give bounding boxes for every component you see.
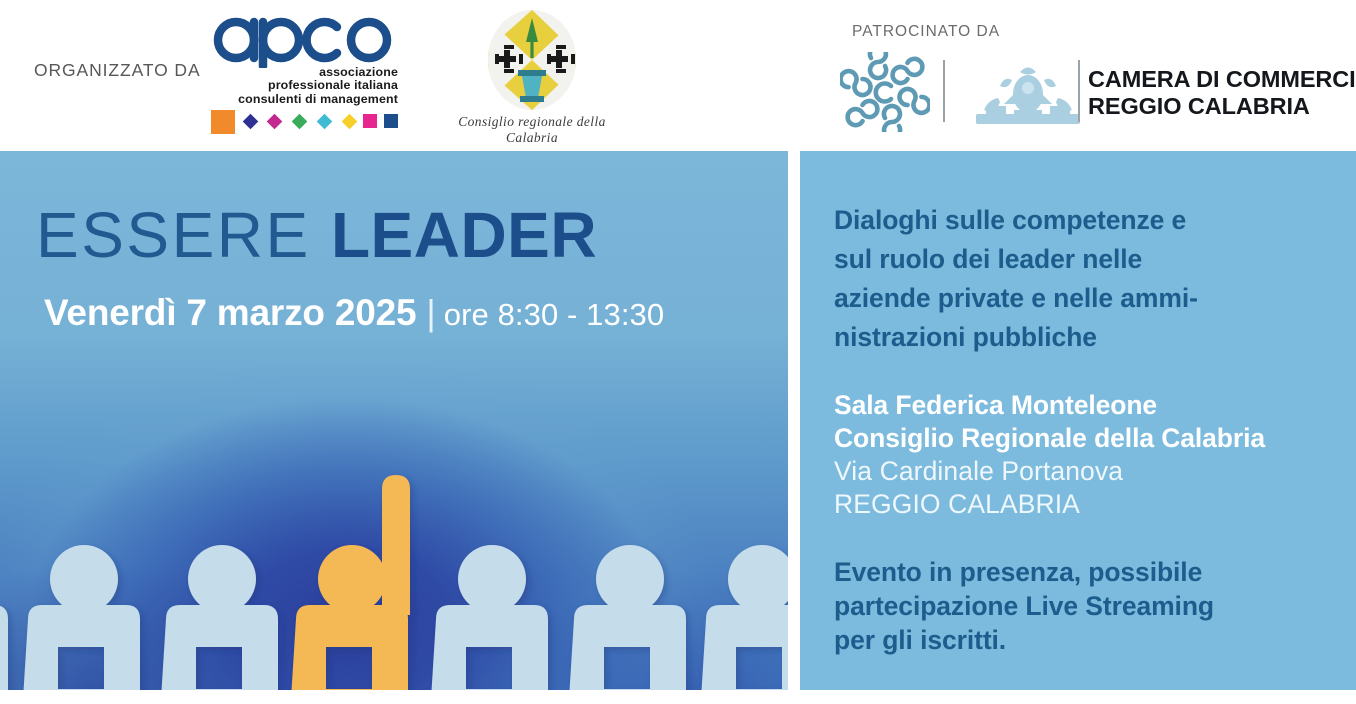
apco-tagline-line-1: associazione [208, 66, 398, 79]
poster-title: ESSERE LEADER [36, 203, 597, 267]
swatch-yellow [342, 114, 358, 130]
description-line-4: nistrazioni pubbliche [834, 318, 1338, 357]
calabria-emblem-icon [432, 8, 632, 112]
description-line-3: aziende private e nelle ammi- [834, 279, 1338, 318]
venue-building: Consiglio Regionale della Calabria [834, 422, 1338, 455]
organized-by-label: ORGANIZZATO DA [34, 60, 201, 81]
swatch-blue [384, 114, 398, 128]
apco-color-swatches [211, 110, 398, 134]
title-word-essere: ESSERE [36, 199, 311, 271]
apco-tagline: associazione professionale italiana cons… [208, 66, 398, 106]
event-description: Dialoghi sulle competenze e sul ruolo de… [834, 201, 1338, 357]
attendance-line-2: partecipazione Live Streaming [834, 589, 1338, 623]
event-venue: Sala Federica Monteleone Consiglio Regio… [834, 389, 1338, 521]
event-details-panel: Dialoghi sulle competenze e sul ruolo de… [800, 151, 1356, 690]
swatch-cyan [317, 114, 333, 130]
swatch-pink [363, 114, 377, 128]
venue-hall: Sala Federica Monteleone [834, 389, 1338, 422]
cdc-title-line-2: REGGIO CALABRIA [1088, 93, 1356, 120]
swatch-magenta [267, 114, 283, 130]
sponsored-by-label: PATROCINATO DA [852, 23, 1000, 41]
chamber-crest-icon [968, 60, 1088, 130]
swatch-orange [211, 110, 235, 134]
description-line-2: sul ruolo dei leader nelle [834, 240, 1338, 279]
attendance-line-1: Evento in presenza, possibile [834, 555, 1338, 589]
apco-tagline-line-3: consulenti di management [208, 93, 398, 106]
camera-di-commercio-logo: CAMERA DI COMMERCIO REGGIO CALABRIA [840, 52, 1340, 132]
calabria-council-logo: Consiglio regionale della Calabria [432, 8, 632, 136]
chamber-rosette-icon [840, 52, 930, 132]
logo-divider-left [943, 60, 945, 122]
calabria-council-caption: Consiglio regionale della Calabria [432, 114, 632, 146]
venue-city: REGGIO CALABRIA [834, 488, 1338, 521]
apco-tagline-line-2: professionale italiana [208, 79, 398, 92]
logo-divider-right [1078, 60, 1080, 122]
swatch-navy [243, 114, 259, 130]
camera-di-commercio-title: CAMERA DI COMMERCIO REGGIO CALABRIA [1088, 66, 1356, 119]
venue-street: Via Cardinale Portanova [834, 455, 1338, 488]
description-line-1: Dialoghi sulle competenze e [834, 201, 1338, 240]
poster-header: ORGANIZZATO DA [0, 0, 1356, 148]
event-datetime: Venerdì 7 marzo 2025|ore 8:30 - 13:30 [44, 294, 664, 331]
apco-wordmark-icon [212, 10, 398, 68]
event-poster: ORGANIZZATO DA [0, 0, 1356, 704]
event-hours: ore 8:30 - 13:30 [444, 297, 664, 332]
swatch-green [292, 114, 308, 130]
hero-image-panel: ESSERE LEADER Venerdì 7 marzo 2025|ore 8… [0, 151, 788, 690]
event-date: Venerdì 7 marzo 2025 [44, 292, 416, 333]
apco-logo: associazione professionale italiana cons… [208, 10, 398, 132]
attendance-line-3: per gli iscritti. [834, 623, 1338, 657]
datetime-separator: | [416, 292, 443, 333]
title-word-leader: LEADER [331, 199, 597, 271]
attendance-info: Evento in presenza, possibile partecipaz… [834, 555, 1338, 657]
cdc-title-line-1: CAMERA DI COMMERCIO [1088, 66, 1356, 93]
